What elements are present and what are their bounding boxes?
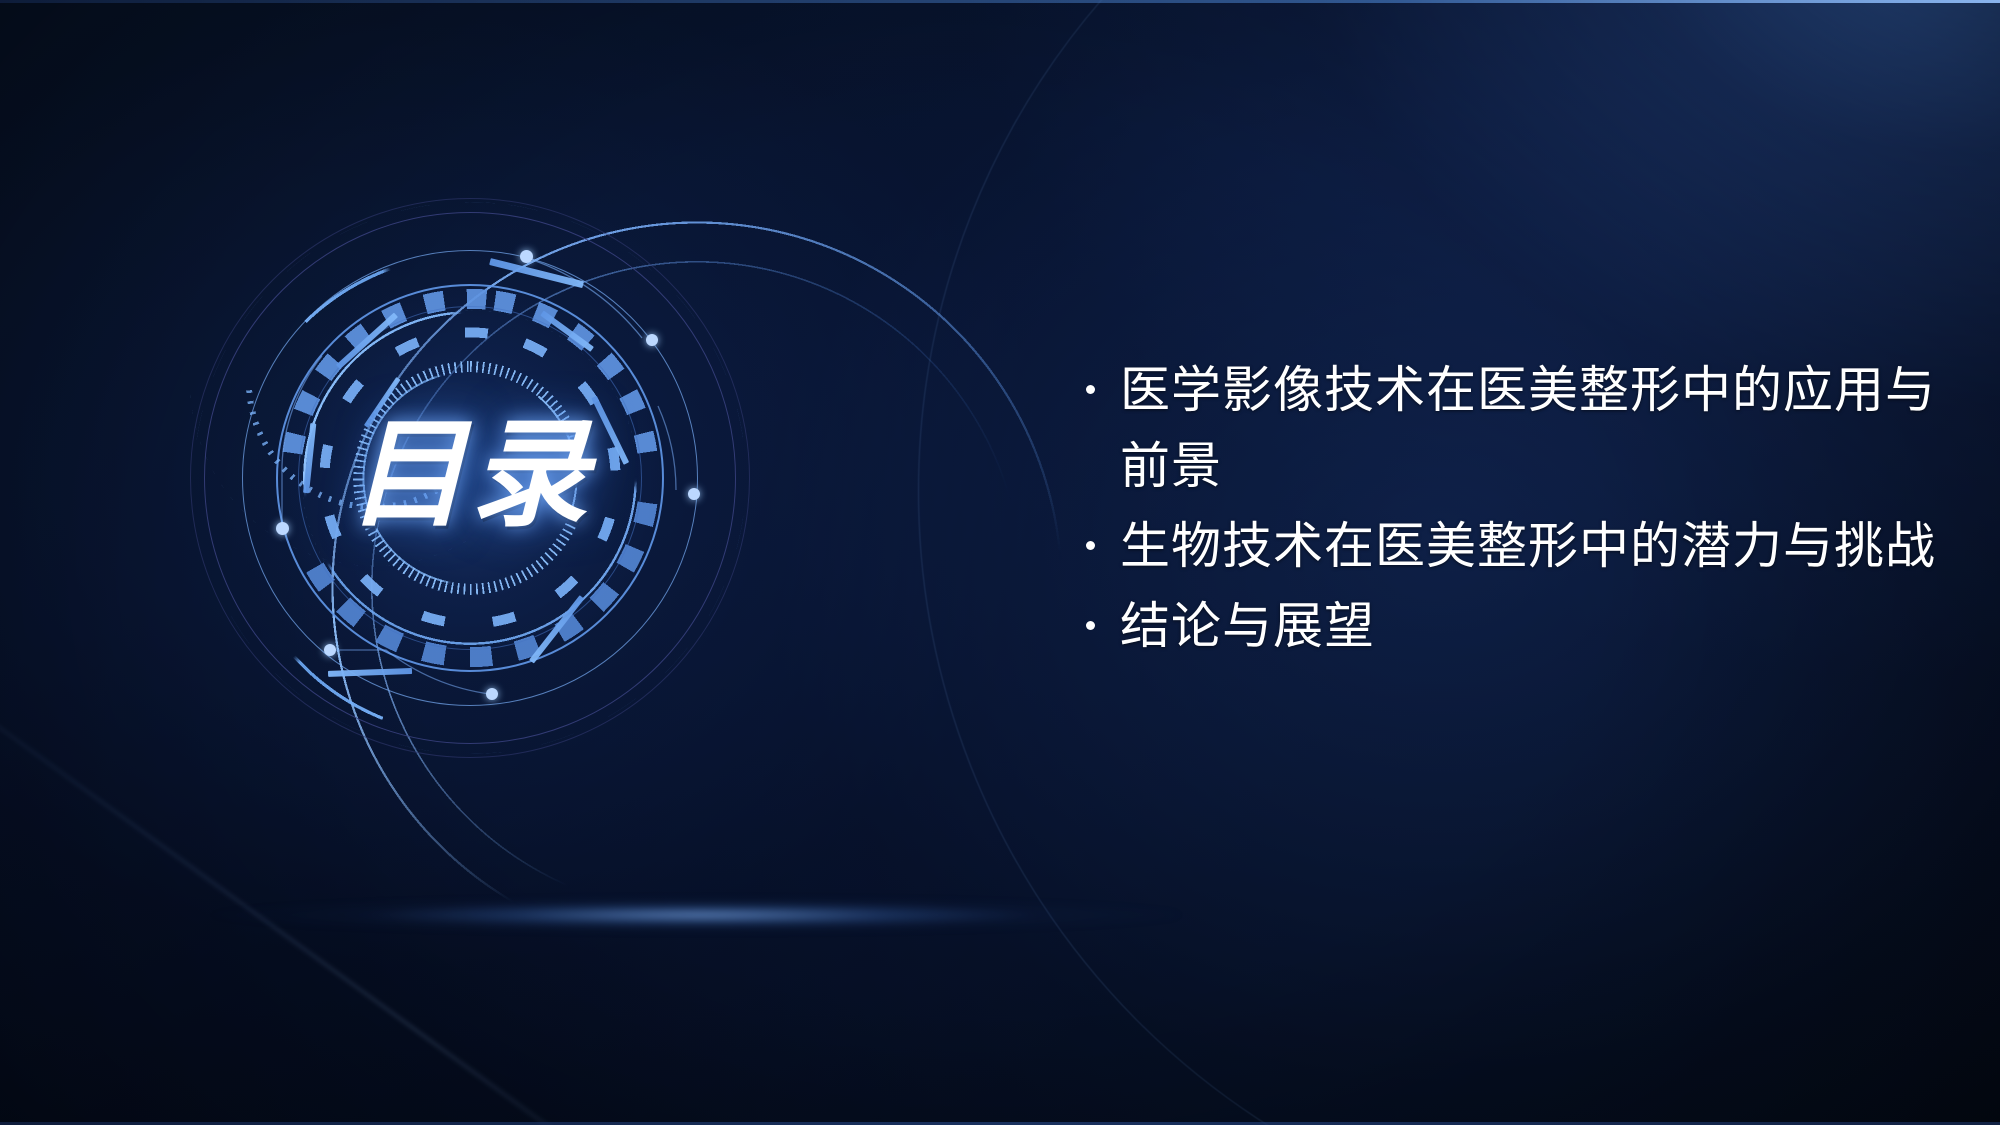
hud-base-light-streak: [180, 885, 1180, 945]
hud-orbit-dot-2: [646, 334, 658, 346]
bullet-dot-icon: [1086, 541, 1095, 550]
toc-item-label: 医学影像技术在医美整形中的应用与前景: [1120, 362, 1936, 494]
toc-item-label: 生物技术在医美整形中的潜力与挑战: [1120, 518, 1936, 574]
toc-item-label: 结论与展望: [1120, 598, 1375, 654]
hud-center-title: 目录: [190, 416, 750, 534]
list-item[interactable]: 医学影像技术在医美整形中的应用与前景: [1080, 352, 1960, 504]
list-item[interactable]: 结论与展望: [1080, 588, 1960, 664]
bullet-dot-icon: [1086, 621, 1095, 630]
presentation-slide: 目录 医学影像技术在医美整形中的应用与前景 生物技术在医美整形中的潜力与挑战 结…: [0, 0, 2000, 1125]
bullet-dot-icon: [1086, 385, 1095, 394]
toc-list: 医学影像技术在医美整形中的应用与前景 生物技术在医美整形中的潜力与挑战 结论与展…: [1080, 352, 1960, 664]
hud-orbit-dot-1: [520, 250, 533, 263]
slide-top-edge-line: [0, 0, 2000, 3]
hud-ring-icon: 目录: [190, 198, 750, 758]
list-item[interactable]: 生物技术在医美整形中的潜力与挑战: [1080, 508, 1960, 584]
table-of-contents: 医学影像技术在医美整形中的应用与前景 生物技术在医美整形中的潜力与挑战 结论与展…: [1080, 352, 1960, 668]
hud-orbit-dot-5: [324, 644, 336, 656]
hud-orbit-dot-6: [486, 688, 498, 700]
